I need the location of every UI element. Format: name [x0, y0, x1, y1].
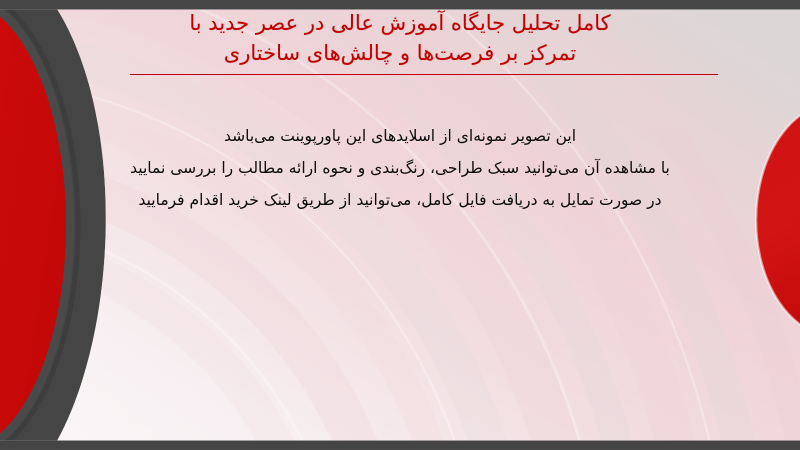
slide-canvas: کامل تحلیل جایگاه آموزش عالی در عصر جدید… — [0, 0, 800, 450]
slide-background — [0, 0, 800, 450]
